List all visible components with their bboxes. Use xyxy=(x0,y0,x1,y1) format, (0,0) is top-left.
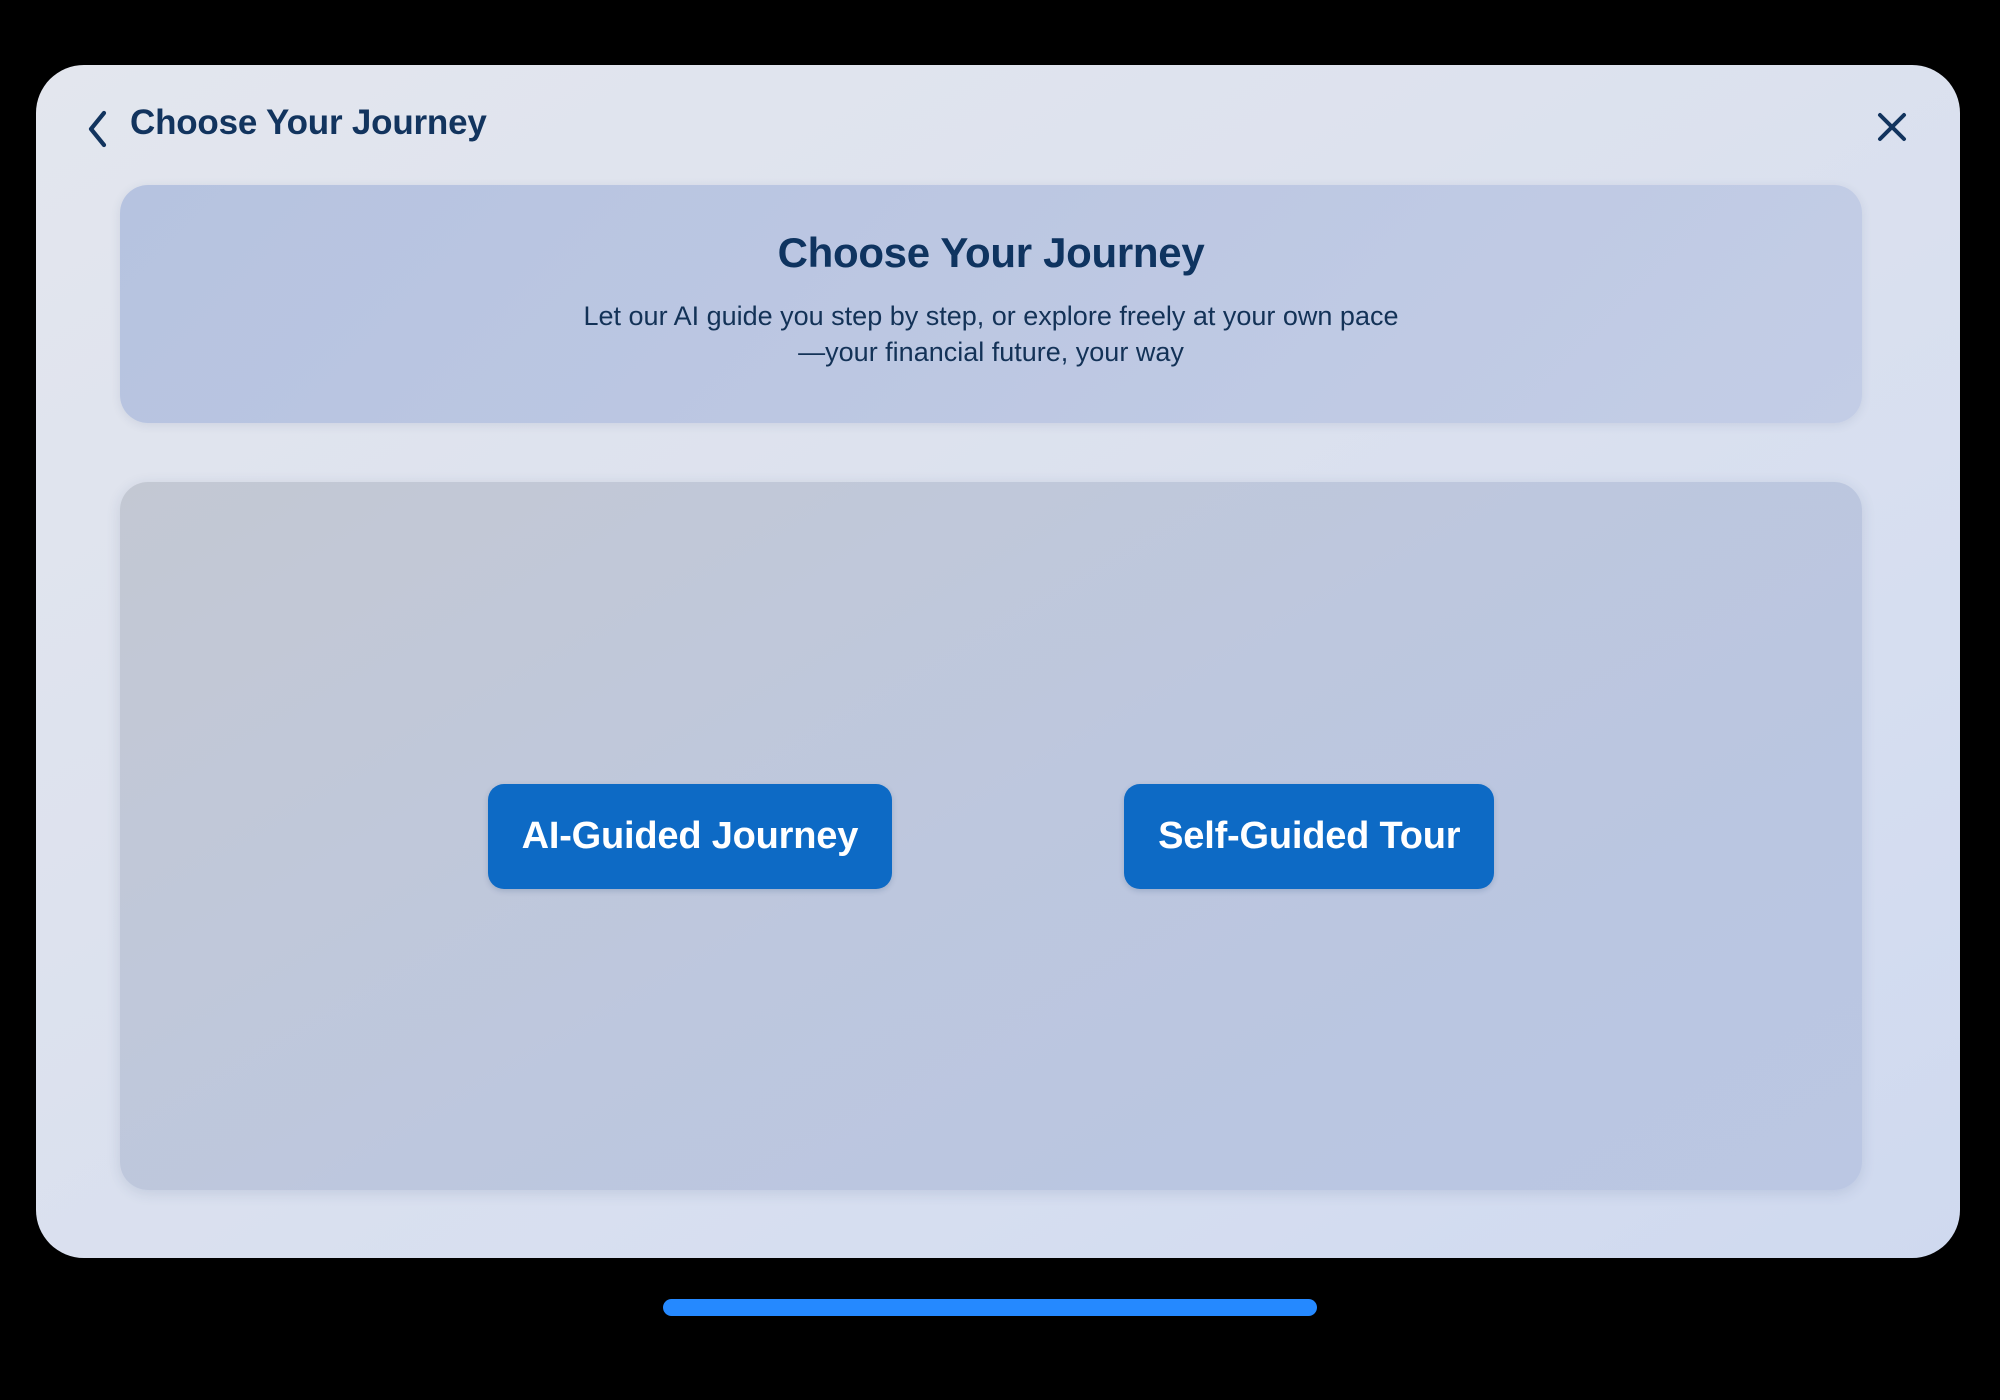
journey-choice-row: AI-Guided Journey Self-Guided Tour xyxy=(120,482,1862,1190)
home-indicator[interactable] xyxy=(663,1299,1317,1316)
page-title: Choose Your Journey xyxy=(130,103,487,143)
chevron-left-icon xyxy=(85,109,111,149)
hero-subtitle: Let our AI guide you step by step, or ex… xyxy=(581,299,1401,370)
header-bar: Choose Your Journey xyxy=(36,65,1960,175)
device-frame: Choose Your Journey Choose Your Journey … xyxy=(36,65,1960,1258)
self-guided-tour-button[interactable]: Self-Guided Tour xyxy=(1124,784,1494,889)
back-button[interactable] xyxy=(78,107,118,151)
hero-title: Choose Your Journey xyxy=(778,229,1205,277)
hero-card: Choose Your Journey Let our AI guide you… xyxy=(120,185,1862,423)
screen-root: Choose Your Journey Choose Your Journey … xyxy=(0,0,2000,1400)
ai-guided-journey-button[interactable]: AI-Guided Journey xyxy=(488,784,893,889)
close-button[interactable] xyxy=(1868,103,1916,151)
close-icon xyxy=(1875,110,1909,144)
content-card: AI-Guided Journey Self-Guided Tour xyxy=(120,482,1862,1190)
